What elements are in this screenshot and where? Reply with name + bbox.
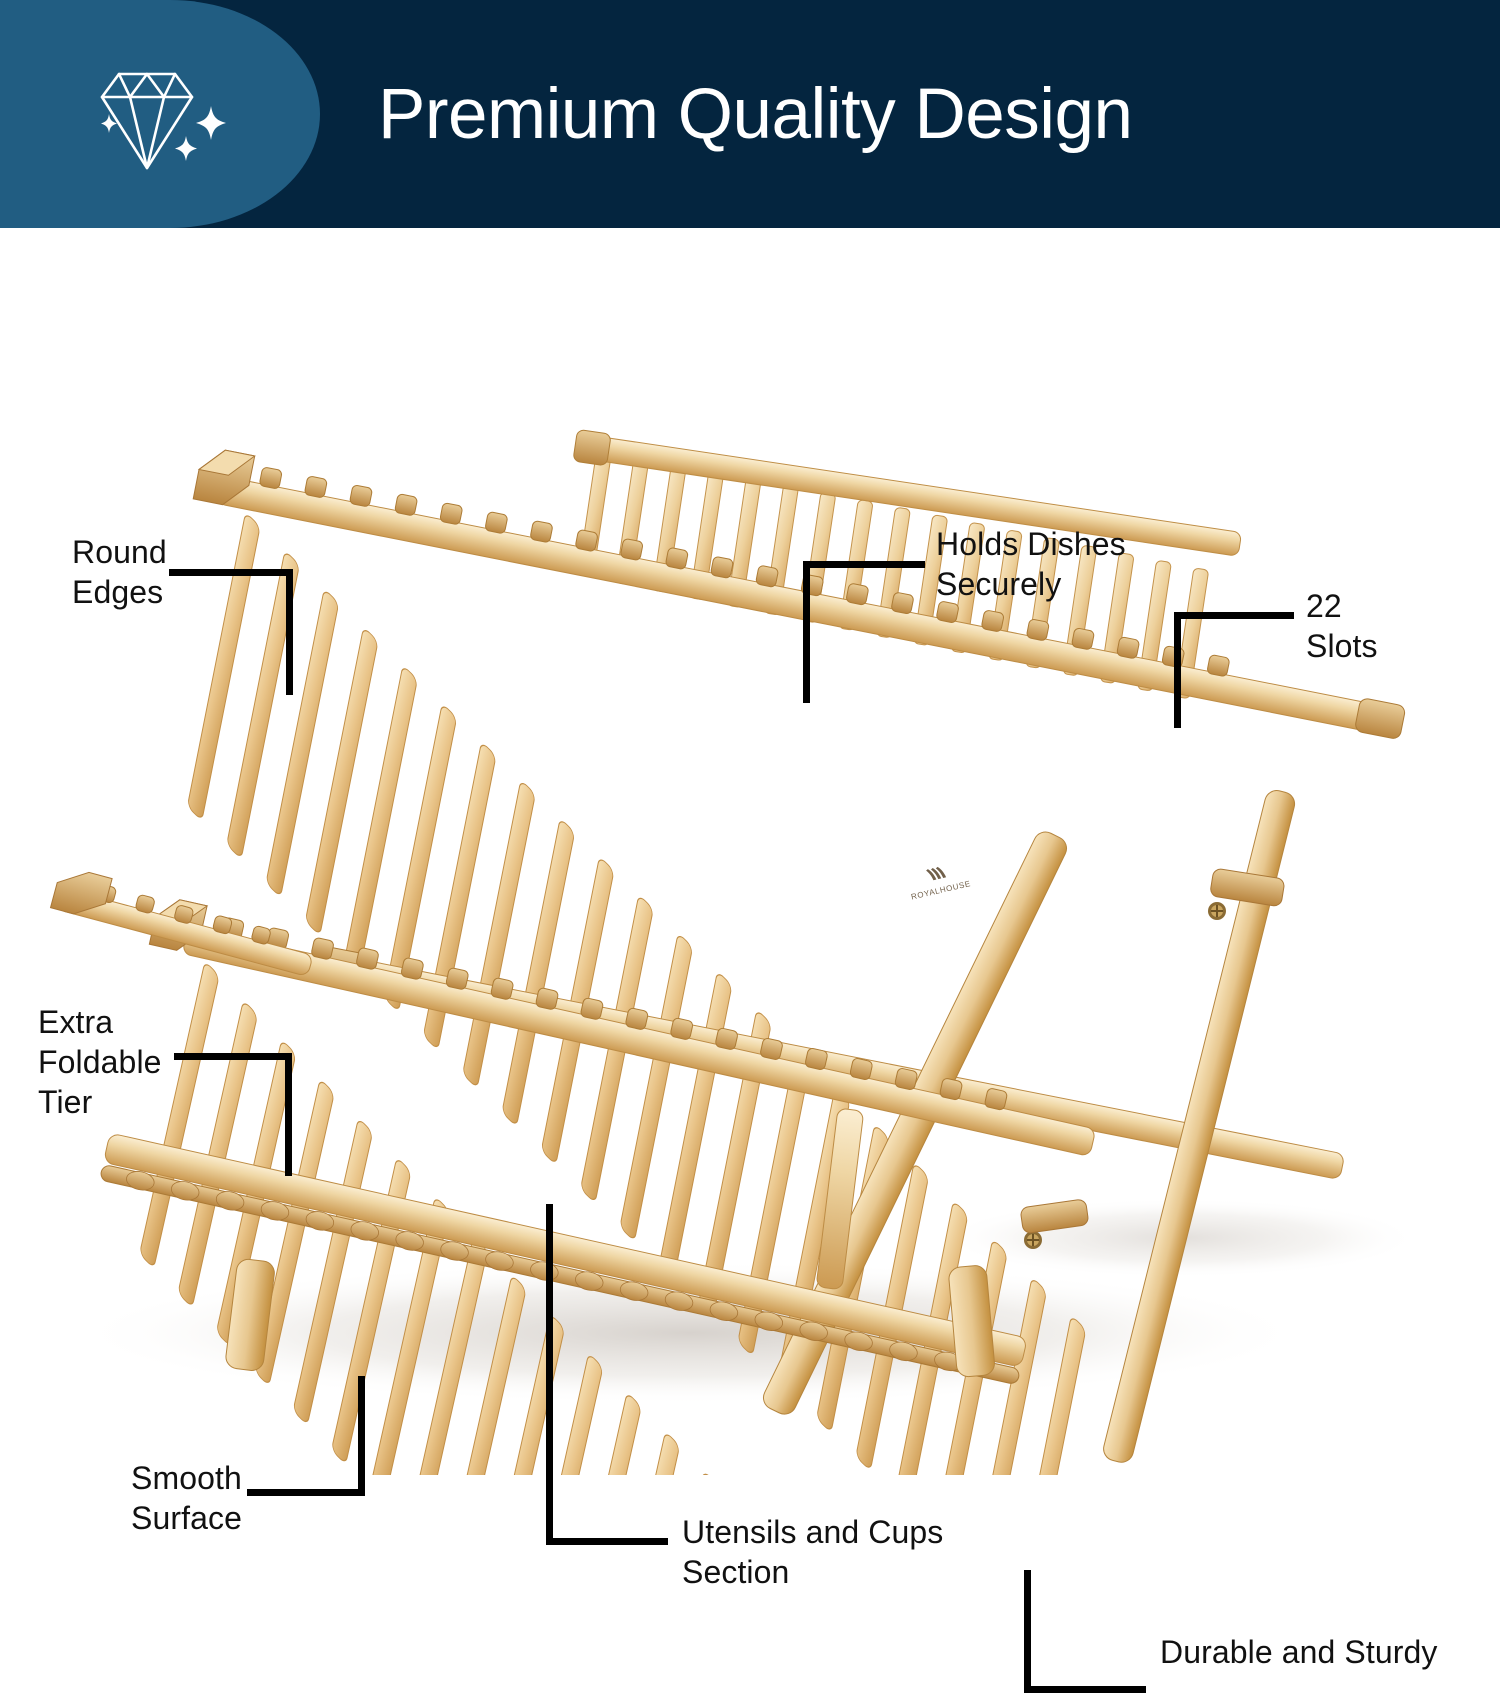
leader-smooth-surface-vertical [358,1376,365,1496]
leader-utensils-cups-horizontal [546,1538,668,1545]
leader-holds-dishes-horizontal [803,561,925,568]
leader-round-edges-horizontal [169,569,293,576]
leader-22-slots-vertical [1174,612,1181,728]
page-title: Premium Quality Design [378,73,1378,157]
leader-round-edges-vertical [286,569,293,695]
leader-durable-sturdy-horizontal [1024,1686,1146,1693]
pivot-screw-lower [1024,1231,1042,1249]
callout-smooth-surface-label: Smooth Surface [131,1458,381,1538]
callout-durable-sturdy-label: Durable and Sturdy [1160,1632,1490,1672]
leader-extra-foldable-tier-vertical [285,1053,292,1176]
leader-durable-sturdy-vertical [1024,1570,1031,1693]
pivot-screw-upper [1208,902,1226,920]
leader-smooth-surface-horizontal [247,1489,365,1496]
callout-22-slots-label: 22 Slots [1306,586,1476,666]
diamond-icon [82,60,242,180]
callout-holds-dishes-label: Holds Dishes Securely [936,524,1236,604]
dish-rack-illustration [0,228,1500,1475]
product-image-area: ROYALHOUSE Round Edges Holds Dishes Secu… [0,228,1500,1475]
callout-utensils-cups-label: Utensils and Cups Section [682,1512,1022,1592]
callout-extra-foldable-tier-label: Extra Foldable Tier [38,1002,288,1122]
leader-holds-dishes-vertical [803,561,810,703]
leader-extra-foldable-tier-horizontal [174,1053,292,1060]
header-banner: Premium Quality Design [0,0,1500,228]
leader-22-slots-horizontal [1174,612,1294,619]
leader-utensils-cups-vertical [546,1204,553,1545]
